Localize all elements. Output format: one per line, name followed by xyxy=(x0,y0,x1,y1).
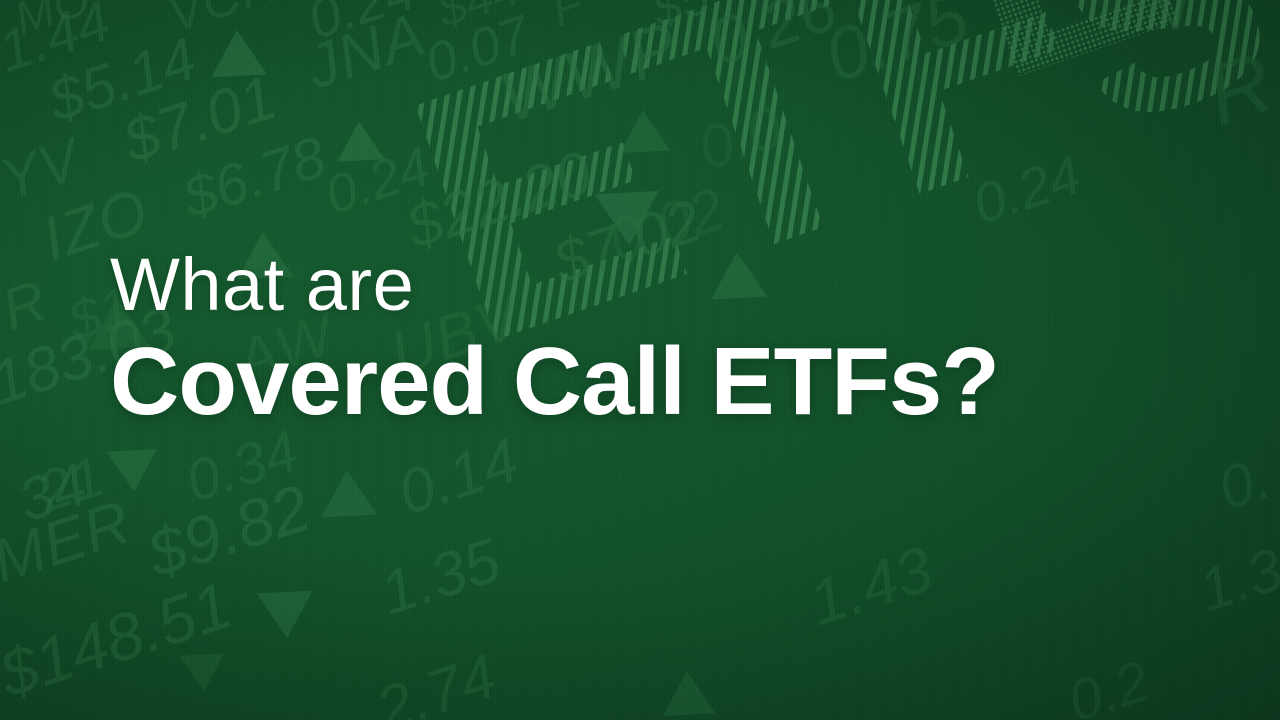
title-block: What are Covered Call ETFs? xyxy=(110,248,999,430)
kicker-text: What are xyxy=(110,248,999,322)
page-title: Covered Call ETFs? xyxy=(110,334,999,430)
slide-canvas: ETFs ESU R MOVCR0.24$44F$50.260.75V1.44J… xyxy=(0,0,1280,720)
